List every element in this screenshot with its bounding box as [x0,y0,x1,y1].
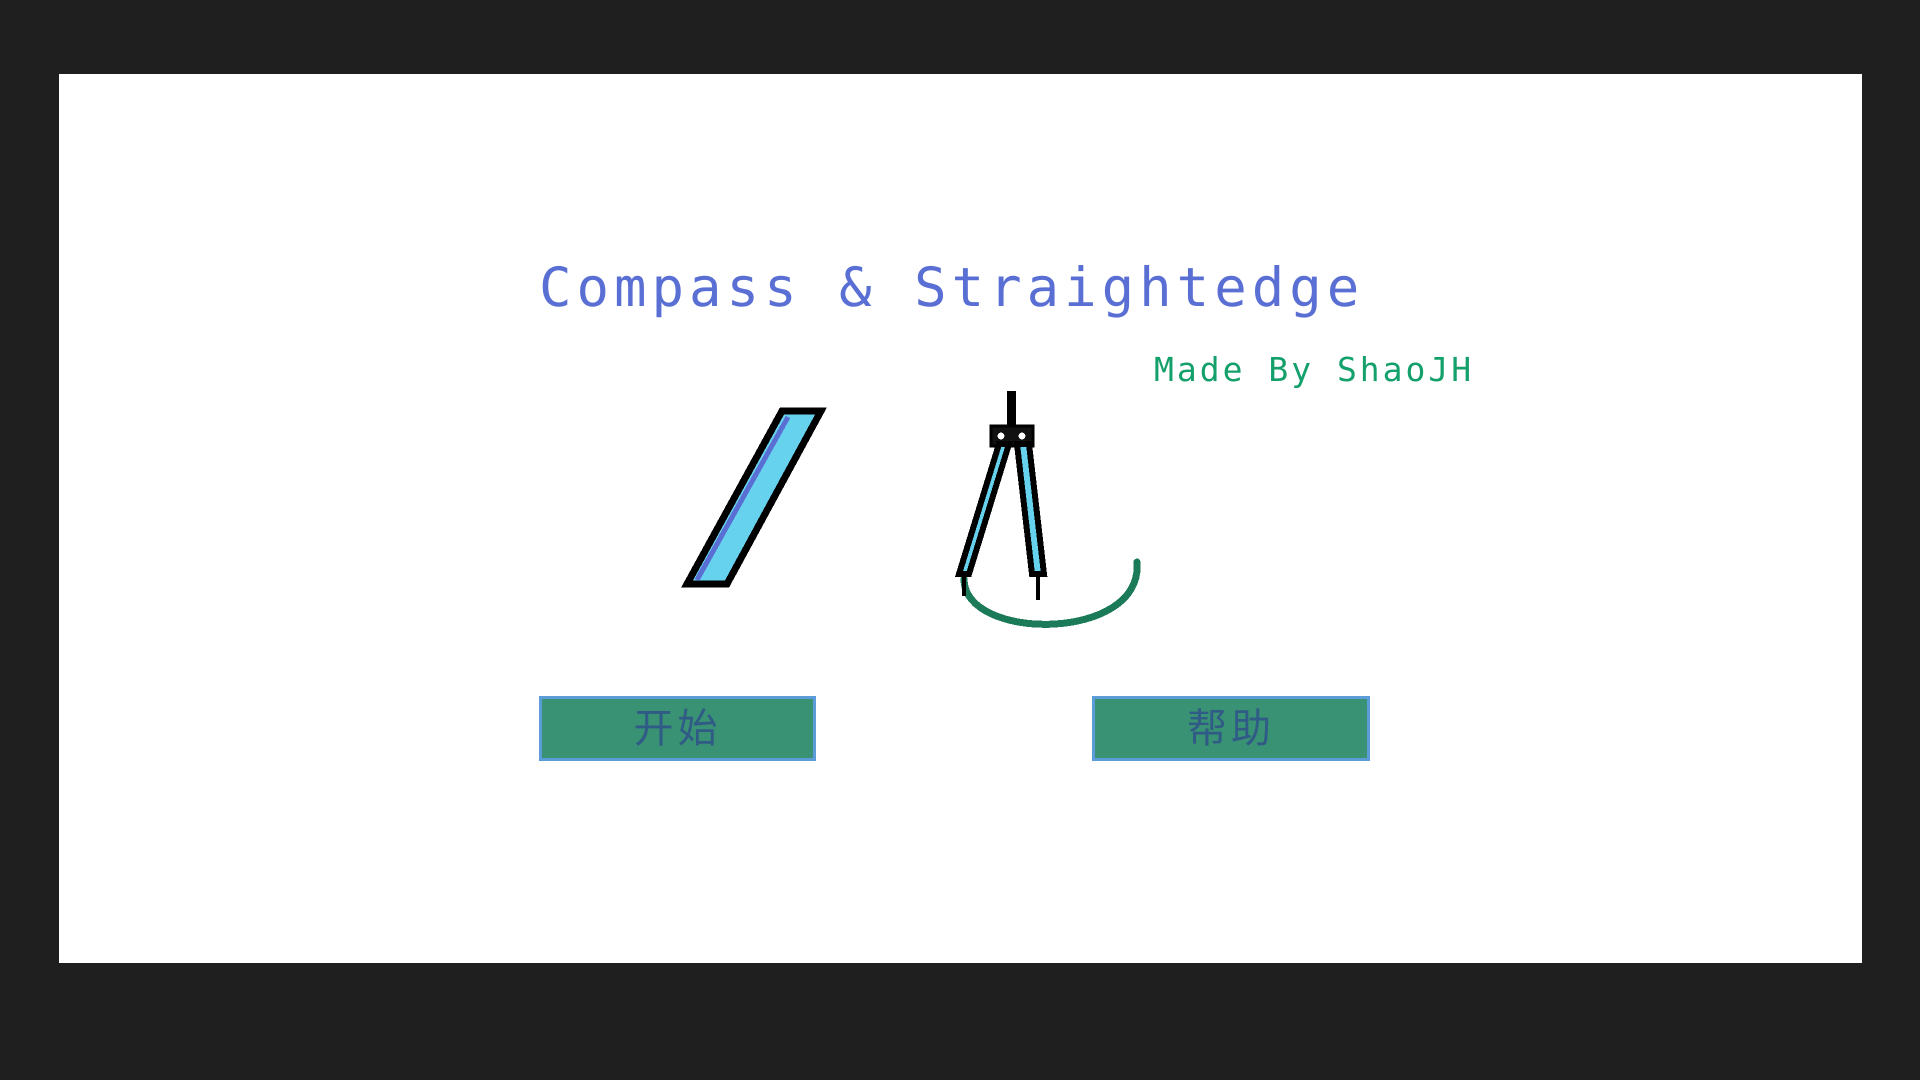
app-window: Compass & Straightedge Made By ShaoJH [0,0,1920,1080]
start-button[interactable]: 开始 [539,696,816,761]
help-button[interactable]: 帮助 [1092,696,1370,761]
page-title: Compass & Straightedge [539,256,1364,319]
compass-icon [939,374,1199,668]
straightedge-icon [569,384,839,618]
author-credit: Made By ShaoJH [1154,350,1474,389]
game-canvas: Compass & Straightedge Made By ShaoJH [59,74,1862,963]
